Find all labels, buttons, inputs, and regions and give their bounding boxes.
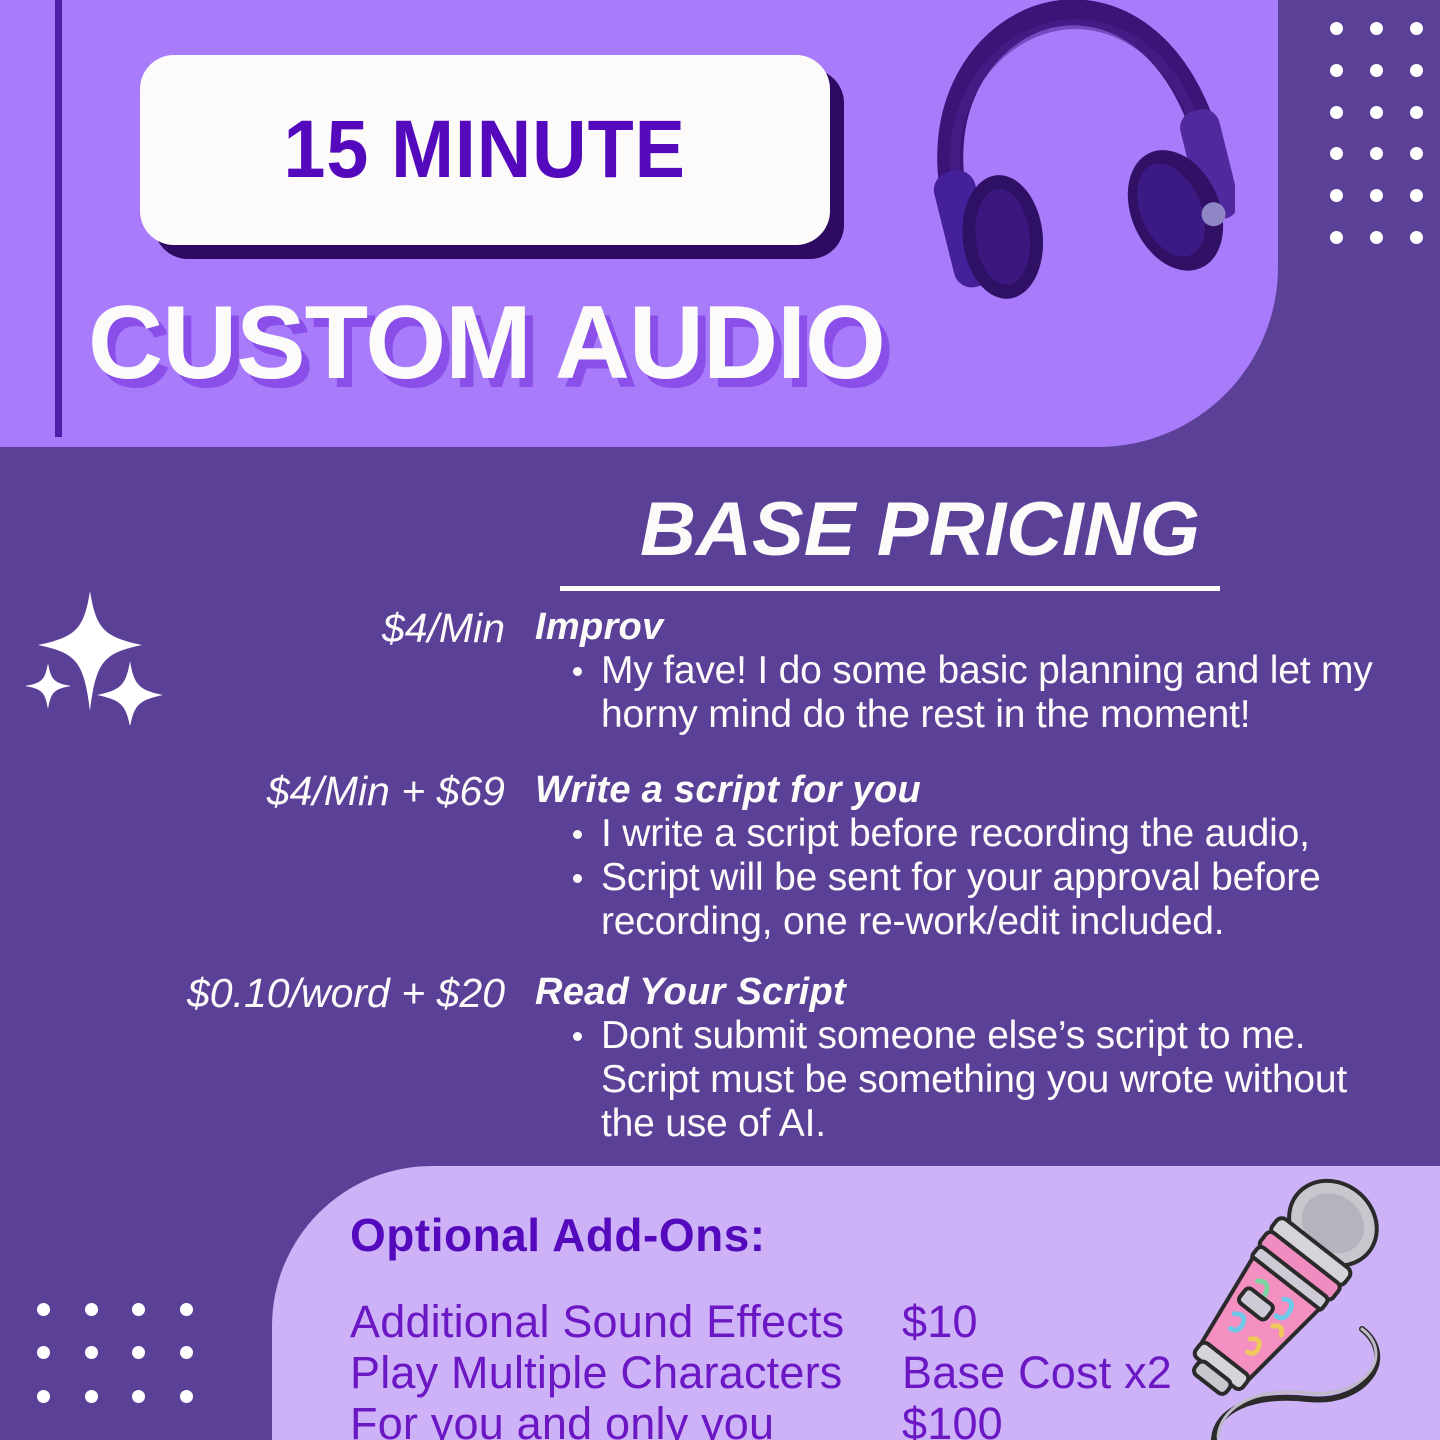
dot-grid-icon-top-right [1316, 8, 1436, 258]
price-heading: Improv [535, 605, 1395, 649]
header-accent-line [55, 0, 62, 437]
price-tag: $0.10/word + $20 [0, 970, 505, 1016]
price-bullet: My fave! I do some basic planning and le… [601, 649, 1395, 737]
addon-price: $100 [902, 1398, 1003, 1440]
addons-row: Additional Sound Effects $10 [350, 1296, 1172, 1347]
addons-panel: Optional Add-Ons: Additional Sound Effec… [272, 1166, 1440, 1440]
microphone-icon [1130, 1166, 1430, 1440]
price-bullet: Dont submit someone else’s script to me.… [601, 1014, 1395, 1146]
price-bullet-list: My fave! I do some basic planning and le… [535, 649, 1395, 737]
addon-price: $10 [902, 1296, 978, 1347]
addons-row: For you and only you $100 [350, 1398, 1172, 1440]
price-heading: Read Your Script [535, 970, 1395, 1014]
addons-title: Optional Add-Ons: [350, 1212, 766, 1258]
addon-name: Play Multiple Characters [350, 1347, 902, 1398]
base-pricing-divider [560, 586, 1220, 591]
price-bullet-list: Dont submit someone else’s script to me.… [535, 1014, 1395, 1146]
addons-row: Play Multiple Characters Base Cost x2 [350, 1347, 1172, 1398]
pricing-poster: 15 MINUTE CUSTOM AUDIO BASE PRICING [0, 0, 1440, 1440]
price-bullet: I write a script before recording the au… [601, 812, 1395, 856]
price-tag: $4/Min + $69 [0, 768, 505, 814]
duration-badge: 15 MINUTE [140, 55, 830, 245]
price-bullet-list: I write a script before recording the au… [535, 812, 1395, 944]
base-pricing-title: BASE PRICING [640, 492, 1200, 568]
addon-name: Additional Sound Effects [350, 1296, 902, 1347]
price-tag: $4/Min [0, 605, 505, 651]
price-bullet: Script will be sent for your approval be… [601, 856, 1395, 944]
page-title: CUSTOM AUDIO [88, 291, 885, 395]
addon-name: For you and only you [350, 1398, 902, 1440]
addons-table: Additional Sound Effects $10 Play Multip… [350, 1296, 1172, 1440]
price-heading: Write a script for you [535, 768, 1395, 812]
headphones-icon [905, 0, 1235, 302]
duration-badge-label: 15 MINUTE [284, 103, 686, 197]
dot-grid-icon-bottom-left [20, 1288, 210, 1418]
